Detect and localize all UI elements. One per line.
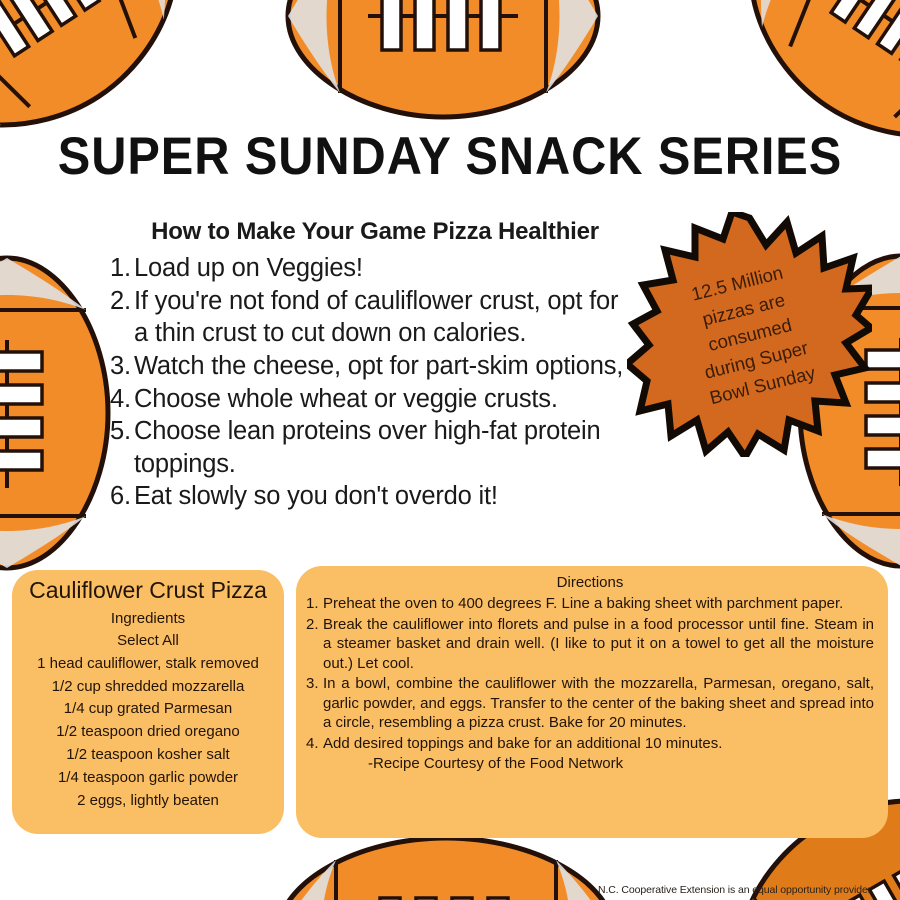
tip-number: 1. — [110, 252, 134, 285]
recipe-credit: -Recipe Courtesy of the Food Network — [306, 755, 874, 772]
ingredients-heading: Ingredients — [20, 608, 276, 631]
fact-starburst-badge: 12.5 Million pizzas are consumed during … — [627, 212, 872, 457]
ingredients-subheading: Select All — [20, 630, 276, 653]
tip-number: 2. — [110, 285, 134, 318]
direction-text: In a bowl, combine the cauliflower with … — [323, 674, 874, 733]
tip-text: Eat slowly so you don't overdo it! — [134, 480, 630, 513]
tips-list: 1. Load up on Veggies! 2. If you're not … — [110, 252, 630, 513]
list-item: 2 eggs, lightly beaten — [20, 790, 276, 813]
list-item: 4. Add desired toppings and bake for an … — [306, 734, 874, 754]
list-item: 5. Choose lean proteins over high-fat pr… — [110, 415, 630, 480]
list-item: 1/4 cup grated Parmesan — [20, 698, 276, 721]
list-item: 1 head cauliflower, stalk removed — [20, 653, 276, 676]
tip-text: Choose lean proteins over high-fat prote… — [134, 415, 630, 480]
football-top-center — [278, 0, 608, 129]
poster-canvas: SUPER SUNDAY SNACK SERIES How to Make Yo… — [0, 0, 900, 900]
tips-section: How to Make Your Game Pizza Healthier 1.… — [110, 218, 630, 513]
direction-number: 2. — [306, 615, 323, 635]
list-item: 3. Watch the cheese, opt for part-skim o… — [110, 350, 630, 383]
list-item: 1/4 teaspoon garlic powder — [20, 767, 276, 790]
football-top-left — [0, 0, 200, 132]
list-item: 1. Preheat the oven to 400 degrees F. Li… — [306, 594, 874, 614]
tip-text: Choose whole wheat or veggie crusts. — [134, 383, 630, 416]
direction-number: 1. — [306, 594, 323, 614]
tip-text: Watch the cheese, opt for part-skim opti… — [134, 350, 630, 383]
list-item: 1/2 teaspoon kosher salt — [20, 744, 276, 767]
recipe-title: Cauliflower Crust Pizza — [20, 578, 276, 604]
directions-panel: Directions 1. Preheat the oven to 400 de… — [296, 566, 888, 838]
list-item: 1. Load up on Veggies! — [110, 252, 630, 285]
page-title: SUPER SUNDAY SNACK SERIES — [36, 126, 864, 187]
tip-number: 3. — [110, 350, 134, 383]
footer-disclaimer: N.C. Cooperative Extension is an equal o… — [598, 884, 873, 896]
direction-text: Preheat the oven to 400 degrees F. Line … — [323, 594, 874, 614]
directions-list: 1. Preheat the oven to 400 degrees F. Li… — [306, 594, 874, 753]
list-item: 3. In a bowl, combine the cauliflower wi… — [306, 674, 874, 733]
list-item: 4. Choose whole wheat or veggie crusts. — [110, 383, 630, 416]
ingredients-list: 1 head cauliflower, stalk removed 1/2 cu… — [20, 653, 276, 813]
list-item: 2. If you're not fond of cauliflower cru… — [110, 285, 630, 350]
football-left-middle — [0, 248, 122, 578]
direction-text: Break the cauliflower into florets and p… — [323, 615, 874, 674]
list-item: 1/2 teaspoon dried oregano — [20, 721, 276, 744]
direction-text: Add desired toppings and bake for an add… — [323, 734, 874, 754]
tip-number: 6. — [110, 480, 134, 513]
tips-heading: How to Make Your Game Pizza Healthier — [120, 218, 630, 246]
list-item: 6. Eat slowly so you don't overdo it! — [110, 480, 630, 513]
tip-number: 5. — [110, 415, 134, 448]
direction-number: 4. — [306, 734, 323, 754]
ingredients-panel: Cauliflower Crust Pizza Ingredients Sele… — [12, 570, 284, 834]
list-item: 1/2 cup shredded mozzarella — [20, 676, 276, 699]
tip-text: If you're not fond of cauliflower crust,… — [134, 285, 630, 350]
direction-number: 3. — [306, 674, 323, 694]
tip-text: Load up on Veggies! — [134, 252, 630, 285]
football-top-right — [726, 0, 900, 142]
list-item: 2. Break the cauliflower into florets an… — [306, 615, 874, 674]
directions-heading: Directions — [306, 574, 874, 591]
tip-number: 4. — [110, 383, 134, 416]
